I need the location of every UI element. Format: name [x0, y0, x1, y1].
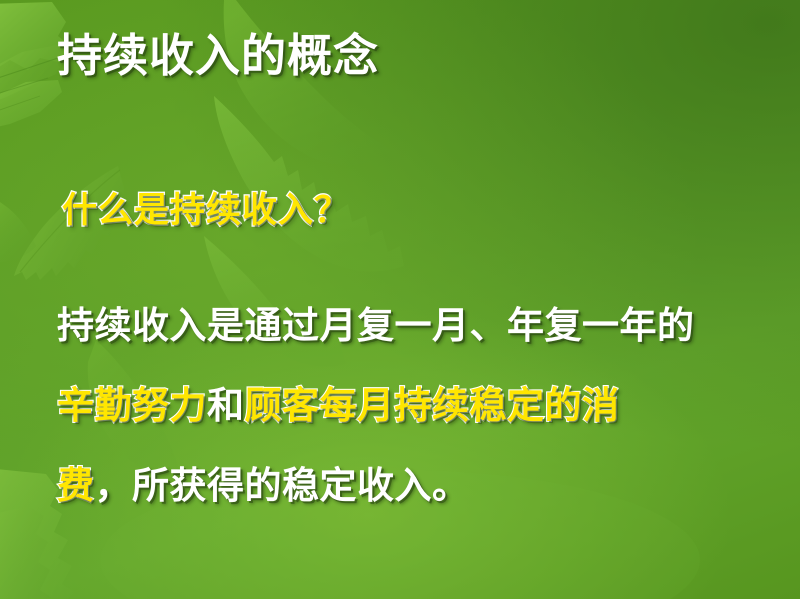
body-text-segment-highlight: 费	[57, 464, 95, 507]
body-text-segment: 持续收入是通过月复一月、年复一年的	[57, 304, 695, 347]
body-text-segment-highlight: 辛勤努力	[57, 384, 207, 427]
body-line-1: 持续收入是通过月复一月、年复一年的	[57, 286, 757, 366]
body-line-2: 辛勤努力和顾客每月持续稳定的消	[57, 366, 757, 446]
page-title: 持续收入的概念	[57, 31, 379, 81]
body-paragraph: 持续收入是通过月复一月、年复一年的 辛勤努力和顾客每月持续稳定的消 费，所获得的…	[57, 286, 757, 526]
leaf-upper-center	[224, 0, 392, 165]
leaf-center-large	[214, 96, 404, 271]
body-text-segment-highlight: 顾客每月持续稳定的消	[245, 384, 620, 427]
section-heading-question: 什么是持续收入？	[62, 192, 350, 231]
presentation-slide: 持续收入的概念 什么是持续收入？ 持续收入是通过月复一月、年复一年的 辛勤努力和…	[0, 0, 800, 599]
body-text-segment: ，所获得的稳定收入。	[95, 464, 470, 507]
leaf-left-edge	[0, 196, 36, 264]
body-line-3: 费，所获得的稳定收入。	[57, 446, 757, 526]
body-text-segment: 和	[207, 384, 245, 427]
